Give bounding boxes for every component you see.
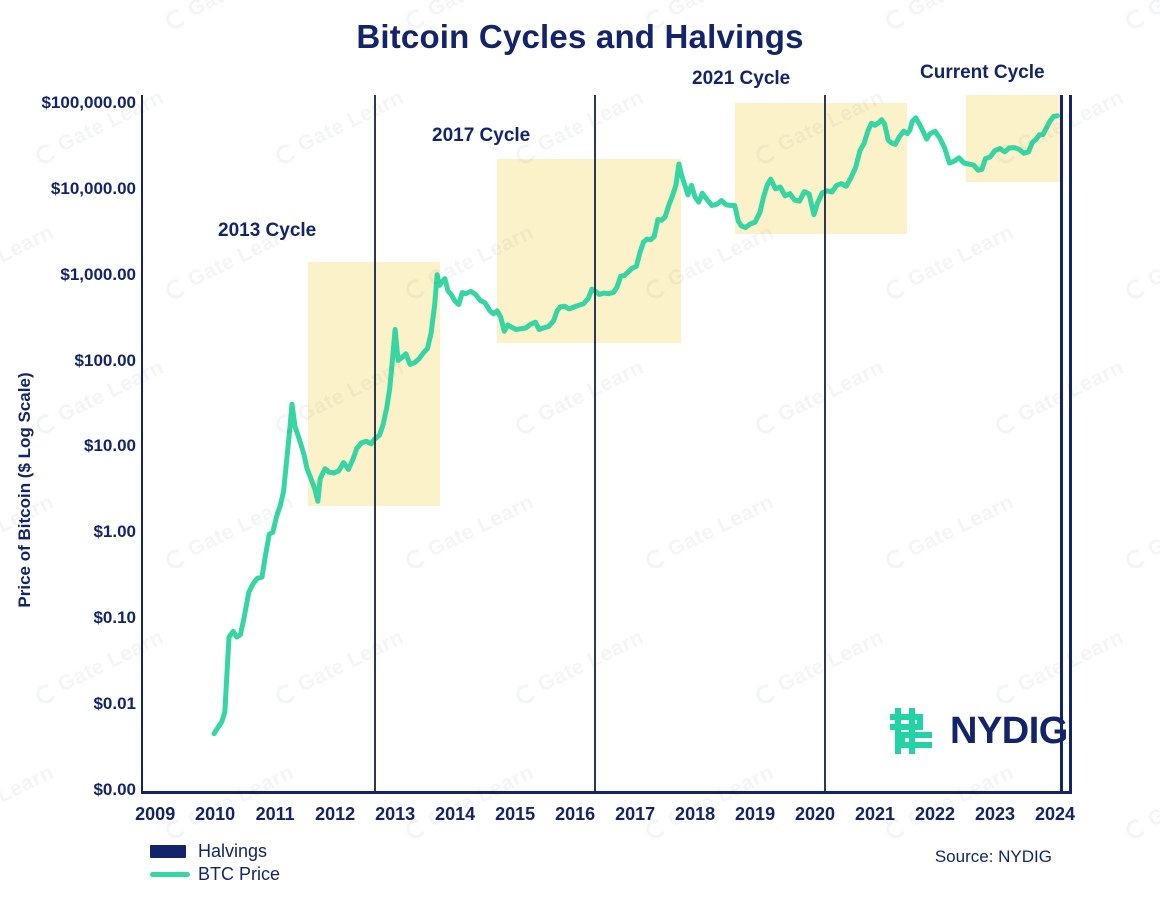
x-axis-tick: 2016 bbox=[555, 804, 595, 825]
watermark-text: Gate Learn bbox=[752, 896, 888, 901]
y-axis-title: Price of Bitcoin ($ Log Scale) bbox=[15, 310, 35, 670]
x-axis-tick: 2011 bbox=[256, 804, 295, 825]
source-note: Source: NYDIG bbox=[935, 847, 1052, 867]
nydig-mark-icon bbox=[880, 700, 942, 762]
btc-price-swatch-icon bbox=[150, 872, 190, 877]
chart-title: Bitcoin Cycles and Halvings bbox=[0, 18, 1160, 56]
cycle-annotation: 2013 Cycle bbox=[218, 220, 316, 242]
cycle-annotation: Current Cycle bbox=[920, 62, 1045, 84]
y-axis-tick: $0.10 bbox=[93, 608, 136, 628]
x-axis-tick: 2019 bbox=[735, 804, 775, 825]
x-axis-tick: 2012 bbox=[315, 804, 355, 825]
x-axis-tick: 2010 bbox=[195, 804, 235, 825]
x-axis-tick: 2022 bbox=[915, 804, 955, 825]
watermark-text: Gate Learn bbox=[512, 896, 648, 901]
halving-line bbox=[594, 95, 596, 792]
halving-line bbox=[1060, 95, 1063, 792]
watermark-text: Gate Learn bbox=[272, 896, 408, 901]
chart-root: Gate LearnGate LearnGate LearnGate Learn… bbox=[0, 0, 1160, 901]
legend-label-halvings: Halvings bbox=[198, 841, 267, 862]
y-axis-tick: $0.00 bbox=[93, 780, 136, 800]
legend-label-btc-price: BTC Price bbox=[198, 864, 280, 885]
y-axis-tick: $100,000.00 bbox=[41, 93, 136, 113]
x-axis-tick: 2014 bbox=[435, 804, 475, 825]
watermark-text: Gate Learn bbox=[1122, 491, 1160, 574]
halving-line bbox=[374, 95, 376, 792]
x-axis-tick: 2017 bbox=[615, 804, 655, 825]
legend-item-btc-price[interactable]: BTC Price bbox=[150, 863, 280, 886]
legend-item-halvings[interactable]: Halvings bbox=[150, 840, 280, 863]
watermark-text: Gate Learn bbox=[992, 896, 1128, 901]
x-axis-tick: 2024 bbox=[1035, 804, 1075, 825]
y-axis-tick: $0.01 bbox=[93, 694, 136, 714]
cycle-annotation: 2017 Cycle bbox=[432, 125, 530, 147]
halvings-swatch-icon bbox=[150, 845, 186, 858]
x-axis-tick: 2015 bbox=[495, 804, 535, 825]
x-axis-tick: 2023 bbox=[975, 804, 1015, 825]
btc-price-line bbox=[142, 95, 1070, 792]
y-axis-tick: $10,000.00 bbox=[51, 179, 136, 199]
plot-right-border bbox=[1069, 95, 1072, 794]
x-axis-tick: 2013 bbox=[375, 804, 415, 825]
y-axis-tick: $100.00 bbox=[75, 351, 136, 371]
chart-legend: Halvings BTC Price bbox=[150, 840, 280, 886]
y-axis-tick: $1.00 bbox=[93, 522, 136, 542]
y-axis-tick: $1,000.00 bbox=[60, 265, 136, 285]
x-axis-tick: 2018 bbox=[675, 804, 715, 825]
cycle-annotation: 2021 Cycle bbox=[692, 68, 790, 90]
watermark-text: Gate Learn bbox=[1122, 221, 1160, 304]
halving-line bbox=[824, 95, 826, 792]
plot-area bbox=[142, 95, 1070, 792]
watermark-text: Gate Learn bbox=[1122, 761, 1160, 844]
x-axis-line bbox=[141, 791, 1072, 794]
x-axis-tick: 2009 bbox=[135, 804, 175, 825]
nydig-wordmark: NYDIG bbox=[950, 710, 1068, 753]
y-axis-tick: $10.00 bbox=[84, 436, 136, 456]
y-axis-line bbox=[141, 95, 143, 794]
x-axis-tick: 2020 bbox=[795, 804, 835, 825]
nydig-logo: NYDIG bbox=[880, 700, 1068, 762]
x-axis-tick: 2021 bbox=[855, 804, 895, 825]
